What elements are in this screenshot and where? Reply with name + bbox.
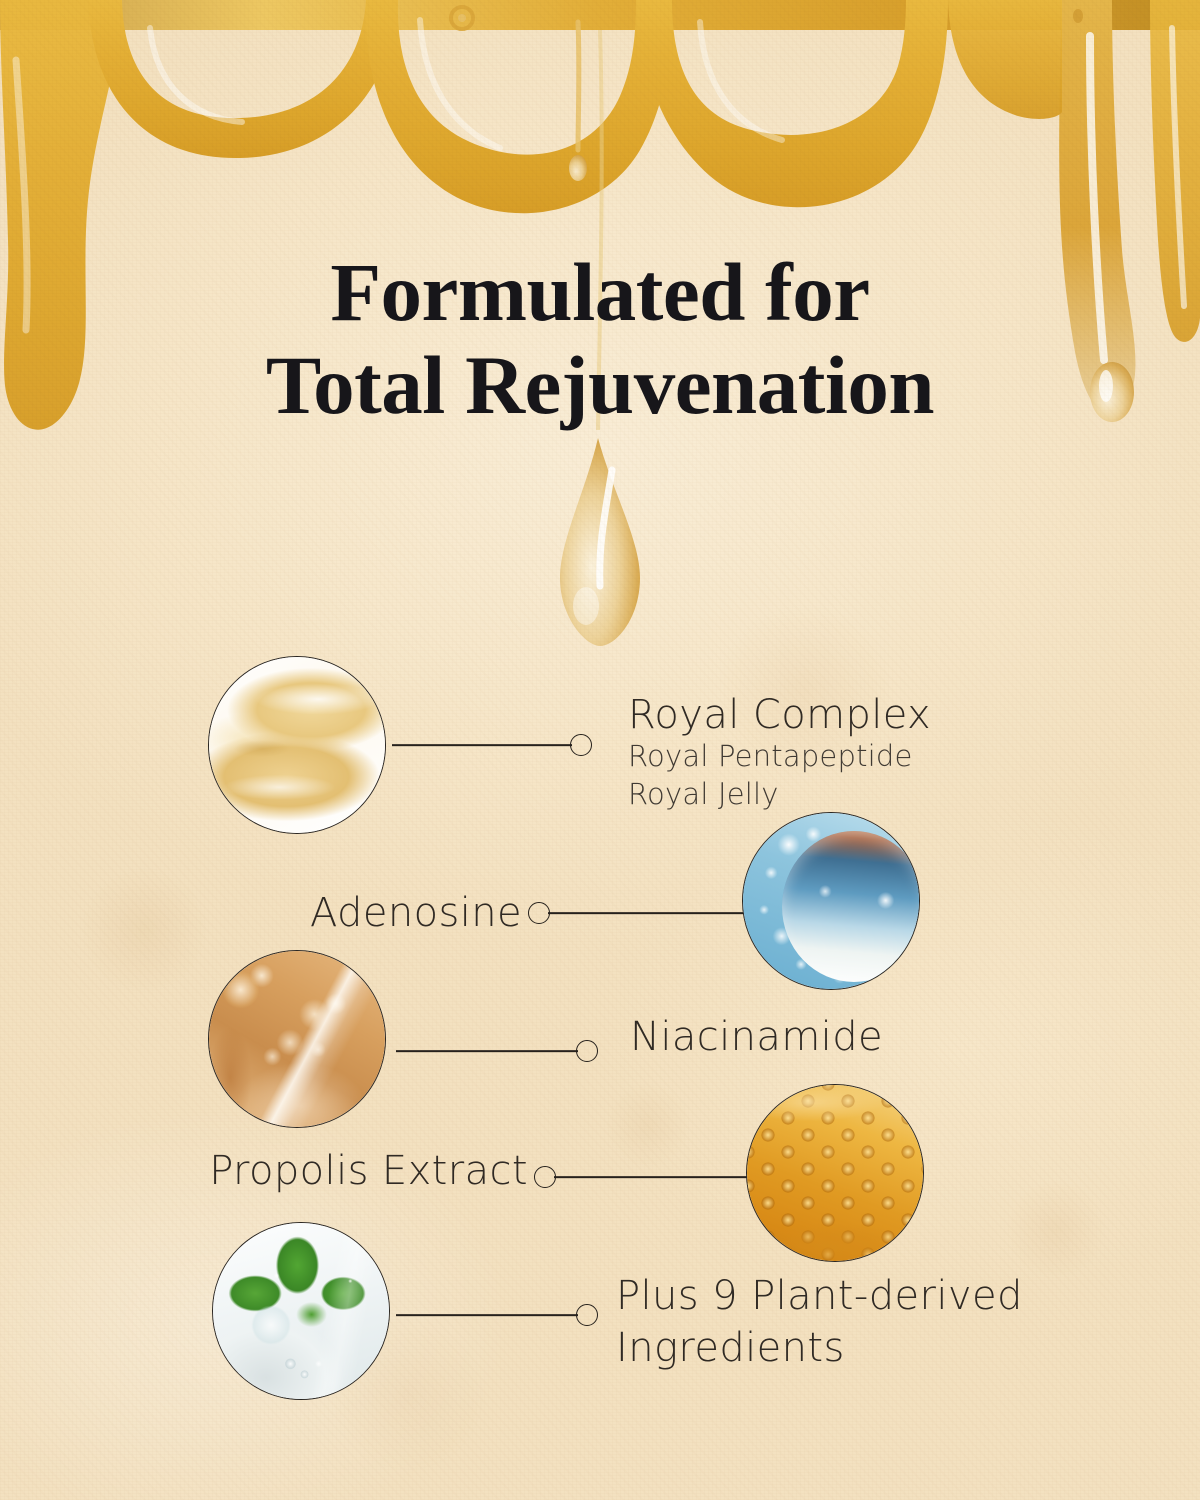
label-propolis-extract: Propolis Extract: [209, 1148, 528, 1194]
adenosine-title: Adenosine: [310, 890, 522, 936]
label-plant-derived: Plus 9 Plant-derived Ingredients: [616, 1270, 1023, 1374]
page-title: Formulated for Total Rejuvenation: [0, 246, 1200, 432]
connector-propolis-extract: [534, 1164, 754, 1190]
label-niacinamide: Niacinamide: [630, 1014, 883, 1060]
label-royal-complex: Royal Complex Royal Pentapeptide Royal J…: [628, 692, 931, 813]
plant-derived-title-line-2: Ingredients: [616, 1322, 1023, 1374]
infographic-canvas: Formulated for Total Rejuvenation Royal …: [0, 0, 1200, 1500]
plant-derived-title-line-1: Plus 9 Plant-derived: [616, 1270, 1023, 1322]
connector-niacinamide: [396, 1038, 602, 1064]
connector-plant-derived: [396, 1302, 602, 1328]
niacinamide-title: Niacinamide: [630, 1014, 883, 1060]
green-leaf-water-drop-image: [212, 1222, 390, 1400]
ingredient-row-plant-derived: Plus 9 Plant-derived Ingredients: [0, 1222, 1200, 1402]
ingredient-row-royal-complex: Royal Complex Royal Pentapeptide Royal J…: [0, 656, 1200, 836]
ingredient-list: Royal Complex Royal Pentapeptide Royal J…: [0, 0, 1200, 1500]
headline-line-1: Formulated for: [330, 246, 869, 338]
propolis-extract-title: Propolis Extract: [209, 1148, 528, 1194]
royal-jelly-cream-swatch-image: [208, 656, 386, 834]
royal-complex-sub-2: Royal Jelly: [628, 776, 931, 813]
royal-complex-title: Royal Complex: [628, 692, 931, 738]
connector-adenosine: [528, 900, 750, 926]
royal-complex-sub-1: Royal Pentapeptide: [628, 738, 931, 775]
connector-royal-complex: [392, 732, 594, 758]
headline-line-2: Total Rejuvenation: [0, 339, 1200, 432]
label-adenosine: Adenosine: [310, 890, 522, 936]
